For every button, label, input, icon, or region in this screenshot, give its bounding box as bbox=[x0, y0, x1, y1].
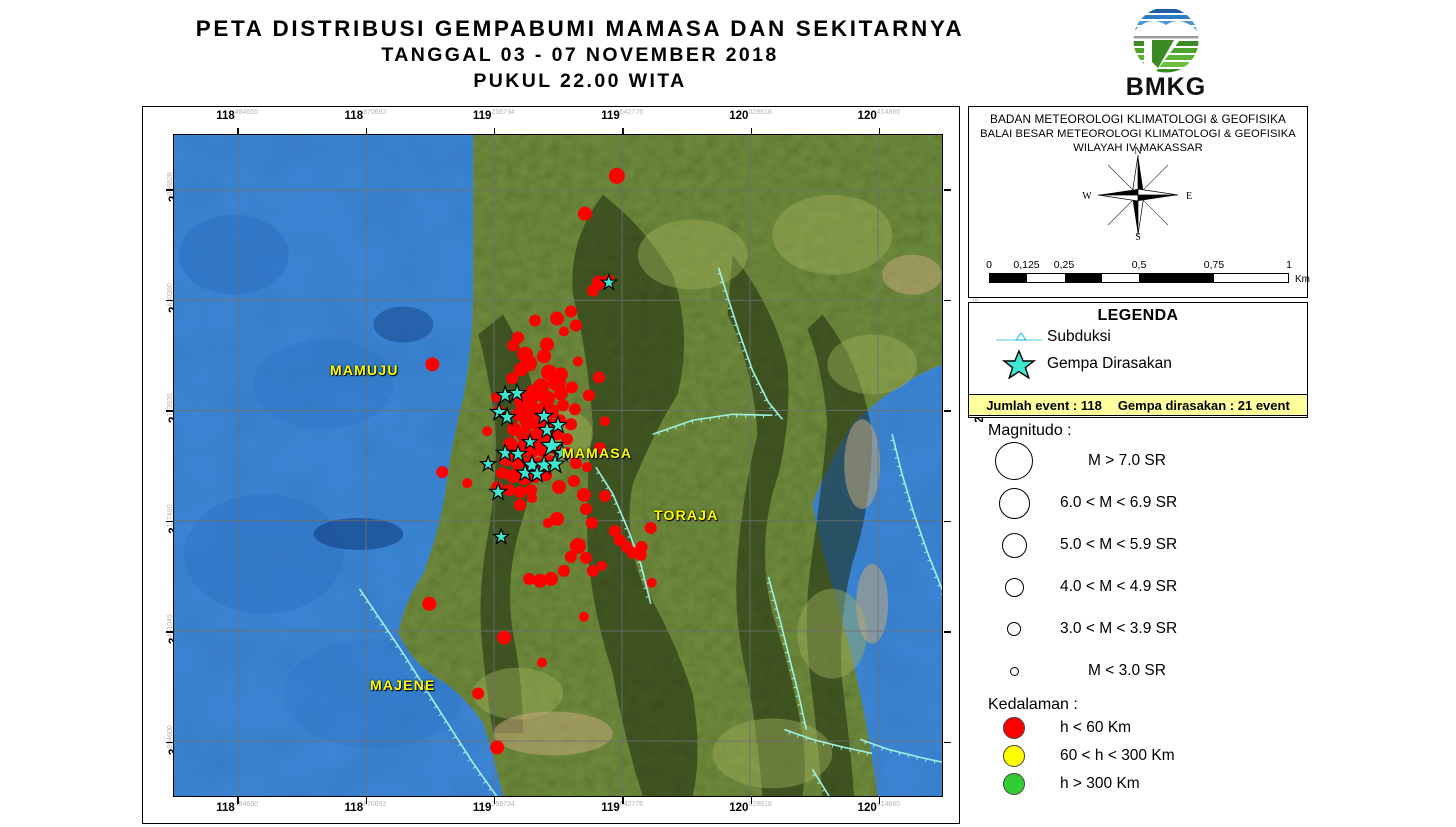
depth-circle-icon bbox=[968, 745, 1060, 767]
earthquake-epicenter[interactable] bbox=[578, 207, 592, 221]
compass-rose: N E S W bbox=[1078, 145, 1198, 241]
map-y-tick bbox=[944, 742, 951, 744]
page-title: PETA DISTRIBUSI GEMPABUMI MAMASA DAN SEK… bbox=[150, 14, 1010, 94]
compass-rose-icon: N E S W bbox=[1078, 145, 1198, 241]
map-x-label: 118870692 bbox=[345, 109, 387, 122]
scale-tick-label: 0 bbox=[986, 259, 992, 271]
earthquake-epicenter[interactable] bbox=[422, 597, 436, 611]
depth-legend-label: 60 < h < 300 Km bbox=[1060, 747, 1175, 765]
earthquake-epicenter[interactable] bbox=[568, 475, 580, 487]
legend-label-subduksi: Subduksi bbox=[1047, 328, 1111, 346]
scale-tick-labels: 00,1250,250,50,751 bbox=[989, 259, 1289, 273]
magnitude-legend-list: M > 7.0 SR6.0 < M < 6.9 SR5.0 < M < 5.9 … bbox=[968, 440, 1308, 692]
map-x-tick bbox=[366, 797, 368, 804]
map-x-label: 120028818 bbox=[729, 109, 772, 122]
earthquake-epicenter[interactable] bbox=[577, 488, 591, 502]
map-y-tick bbox=[944, 189, 951, 191]
earthquake-epicenter[interactable] bbox=[565, 306, 577, 318]
map-y-tick bbox=[944, 521, 951, 523]
earthquake-epicenter[interactable] bbox=[472, 688, 484, 700]
magnitude-legend-row: 5.0 < M < 5.9 SR bbox=[968, 524, 1308, 566]
earthquake-epicenter[interactable] bbox=[537, 658, 547, 668]
title-line-3: PUKUL 22.00 WITA bbox=[150, 69, 1010, 94]
bmkg-logo-icon bbox=[1124, 6, 1208, 74]
magnitude-legend-label: 4.0 < M < 4.9 SR bbox=[1060, 578, 1177, 596]
scale-bar: 00,1250,250,50,751 Km bbox=[989, 259, 1289, 283]
map-x-tick bbox=[494, 797, 496, 804]
subduction-barb bbox=[934, 761, 935, 764]
map-y-tick bbox=[166, 742, 173, 744]
scale-tick-label: 0,5 bbox=[1132, 259, 1147, 271]
magnitude-circle-icon bbox=[968, 622, 1060, 636]
magnitude-circle-icon bbox=[968, 533, 1060, 558]
map-x-tick bbox=[879, 797, 881, 804]
depth-title: Kedalaman : bbox=[968, 696, 1308, 714]
city-label-toraja: TORAJA bbox=[654, 507, 719, 523]
subduction-barb bbox=[850, 749, 851, 752]
earthquake-epicenter[interactable] bbox=[512, 331, 524, 343]
earthquake-epicenter[interactable] bbox=[537, 349, 551, 363]
map-x-label: 119642776 bbox=[601, 109, 643, 122]
earthquake-epicenter[interactable] bbox=[645, 522, 657, 534]
map-x-label: 118484650 bbox=[216, 109, 258, 122]
map-basemap bbox=[174, 135, 942, 796]
earthquake-epicenter[interactable] bbox=[600, 416, 610, 426]
magnitude-legend-row: 6.0 < M < 6.9 SR bbox=[968, 482, 1308, 524]
magnitude-circle-icon bbox=[968, 667, 1060, 676]
subduction-barb bbox=[802, 722, 805, 723]
depth-legend-row: h < 60 Km bbox=[968, 714, 1308, 742]
earthquake-epicenter[interactable] bbox=[490, 740, 504, 754]
map-y-tick bbox=[944, 300, 951, 302]
title-line-2: TANGGAL 03 - 07 NOVEMBER 2018 bbox=[150, 43, 1010, 68]
depth-legend-label: h > 300 Km bbox=[1060, 775, 1140, 793]
magnitude-legend-label: 6.0 < M < 6.9 SR bbox=[1060, 494, 1177, 512]
magnitude-legend-label: 3.0 < M < 3.9 SR bbox=[1060, 620, 1177, 638]
magnitude-legend-row: M < 3.0 SR bbox=[968, 650, 1308, 692]
earthquake-epicenter[interactable] bbox=[527, 493, 537, 503]
agency-line-1: BADAN METEOROLOGI KLIMATOLOGI & GEOFISIK… bbox=[969, 112, 1307, 127]
magnitude-circle-icon bbox=[968, 442, 1060, 480]
earthquake-epicenter[interactable] bbox=[580, 552, 592, 564]
earthquake-epicenter[interactable] bbox=[554, 386, 568, 400]
magnitude-legend-label: M > 7.0 SR bbox=[1060, 452, 1166, 470]
compass-east-label: E bbox=[1186, 191, 1192, 202]
magnitude-title: Magnitudo : bbox=[968, 422, 1308, 440]
subduction-barb bbox=[858, 751, 859, 754]
earthquake-epicenter[interactable] bbox=[566, 381, 578, 393]
earthquake-epicenter[interactable] bbox=[506, 372, 518, 384]
earthquake-epicenter[interactable] bbox=[550, 312, 564, 326]
earthquake-epicenter[interactable] bbox=[529, 315, 541, 327]
earthquake-epicenter[interactable] bbox=[540, 337, 554, 351]
earthquake-epicenter[interactable] bbox=[635, 549, 647, 561]
earthquake-epicenter[interactable] bbox=[543, 518, 553, 528]
earthquake-epicenter[interactable] bbox=[647, 578, 657, 588]
earthquake-epicenter[interactable] bbox=[425, 357, 439, 371]
subduction-barb bbox=[692, 420, 693, 423]
earthquake-epicenter[interactable] bbox=[597, 561, 607, 571]
compass-south-label: S bbox=[1135, 232, 1141, 241]
legend-title: LEGENDA bbox=[969, 303, 1307, 325]
scale-tick-label: 0,25 bbox=[1054, 259, 1074, 271]
map-y-tick bbox=[944, 631, 951, 633]
compass-north-label: N bbox=[1134, 146, 1141, 157]
map-y-tick bbox=[166, 521, 173, 523]
bmkg-logo-text: BMKG bbox=[1086, 75, 1246, 100]
depth-legend-label: h < 60 Km bbox=[1060, 719, 1131, 737]
subduction-barb bbox=[798, 704, 801, 705]
felt-event-label: Gempa dirasakan : 21 event bbox=[1118, 398, 1290, 413]
earthquake-epicenter[interactable] bbox=[558, 565, 570, 577]
earthquake-epicenter[interactable] bbox=[582, 462, 592, 472]
earthquake-epicenter[interactable] bbox=[523, 573, 535, 585]
legend-label-gempa-dirasakan: Gempa Dirasakan bbox=[1047, 355, 1172, 373]
legend-item-subduksi: Subduksi bbox=[969, 328, 1307, 346]
map-y-tick bbox=[166, 410, 173, 412]
subduction-barb bbox=[800, 713, 803, 714]
magnitude-circle-icon bbox=[968, 488, 1060, 519]
earthquake-epicenter[interactable] bbox=[573, 356, 583, 366]
earthquake-epicenter[interactable] bbox=[570, 320, 582, 332]
map-y-tick bbox=[166, 300, 173, 302]
subduction-barb bbox=[926, 759, 927, 762]
scale-tick-label: 1 bbox=[1286, 259, 1292, 271]
map-x-tick bbox=[751, 797, 753, 804]
magnitude-legend-label: M < 3.0 SR bbox=[1060, 662, 1166, 680]
star-icon bbox=[991, 349, 1047, 379]
scale-tick-label: 0,75 bbox=[1204, 259, 1224, 271]
earthquake-epicenter[interactable] bbox=[554, 367, 568, 381]
earthquake-epicenter[interactable] bbox=[569, 403, 581, 415]
earthquake-epicenter[interactable] bbox=[587, 285, 599, 297]
map-frame: 1184846501188706921192567341196427761200… bbox=[142, 106, 960, 824]
agency-line-2: BALAI BESAR METEOROLOGI KLIMATOLOGI & GE… bbox=[969, 127, 1307, 141]
earthquake-epicenter[interactable] bbox=[565, 418, 577, 430]
map-x-tick bbox=[622, 797, 624, 804]
city-label-mamuju: MAMUJU bbox=[330, 362, 399, 378]
scale-bar-graphic: Km bbox=[989, 273, 1289, 283]
magnitude-depth-panel: Magnitudo : M > 7.0 SR6.0 < M < 6.9 SR5.… bbox=[968, 422, 1308, 824]
magnitude-legend-row: M > 7.0 SR bbox=[968, 440, 1308, 482]
event-count-banner: Jumlah event : 118 Gempa dirasakan : 21 … bbox=[968, 394, 1308, 416]
scale-unit-label: Km bbox=[1295, 274, 1310, 285]
magnitude-legend-label: 5.0 < M < 5.9 SR bbox=[1060, 536, 1177, 554]
earthquake-epicenter[interactable] bbox=[580, 503, 592, 515]
agency-panel: BADAN METEOROLOGI KLIMATOLOGI & GEOFISIK… bbox=[968, 106, 1308, 298]
map-y-tick bbox=[166, 631, 173, 633]
subduction-barb bbox=[867, 752, 868, 755]
city-label-majene: MAJENE bbox=[370, 677, 436, 693]
depth-legend-row: h > 300 Km bbox=[968, 770, 1308, 798]
subduction-barb bbox=[796, 696, 799, 697]
map-y-tick bbox=[166, 189, 173, 191]
bmkg-logo: BMKG bbox=[1086, 6, 1246, 100]
earthquake-epicenter[interactable] bbox=[557, 399, 569, 411]
total-event-label: Jumlah event : 118 bbox=[986, 398, 1102, 413]
map-x-label: 120414860 bbox=[858, 109, 901, 122]
map-y-tick bbox=[944, 410, 951, 412]
subduction-line-icon bbox=[991, 329, 1047, 345]
earthquake-epicenter[interactable] bbox=[565, 551, 577, 563]
earthquake-epicenter[interactable] bbox=[482, 426, 492, 436]
depth-circle-icon bbox=[968, 773, 1060, 795]
earthquake-epicenter[interactable] bbox=[579, 612, 589, 622]
title-line-1: PETA DISTRIBUSI GEMPABUMI MAMASA DAN SEK… bbox=[150, 14, 1010, 43]
city-label-mamasa: MAMASA bbox=[562, 445, 632, 461]
earthquake-epicenter[interactable] bbox=[514, 499, 526, 511]
earthquake-epicenter[interactable] bbox=[583, 389, 595, 401]
map-viewport[interactable]: MAMUJUMAMASATORAJAMAJENE bbox=[173, 134, 943, 797]
earthquake-epicenter[interactable] bbox=[497, 631, 511, 645]
magnitude-circle-icon bbox=[968, 578, 1060, 597]
earthquake-epicenter[interactable] bbox=[533, 574, 547, 588]
depth-circle-icon bbox=[968, 717, 1060, 739]
depth-legend-list: h < 60 Km60 < h < 300 Kmh > 300 Km bbox=[968, 714, 1308, 798]
earthquake-epicenter[interactable] bbox=[462, 478, 472, 488]
earthquake-epicenter[interactable] bbox=[609, 168, 625, 184]
earthquake-epicenter[interactable] bbox=[593, 371, 605, 383]
earthquake-epicenter[interactable] bbox=[436, 466, 448, 478]
legend-item-gempa-dirasakan: Gempa Dirasakan bbox=[969, 349, 1307, 379]
map-x-label: 119256734 bbox=[473, 109, 515, 122]
compass-west-label: W bbox=[1082, 191, 1092, 202]
magnitude-legend-row: 3.0 < M < 3.9 SR bbox=[968, 608, 1308, 650]
earthquake-epicenter[interactable] bbox=[552, 480, 566, 494]
earthquake-epicenter[interactable] bbox=[559, 326, 569, 336]
magnitude-legend-row: 4.0 < M < 4.9 SR bbox=[968, 566, 1308, 608]
earthquake-epicenter[interactable] bbox=[514, 486, 526, 498]
earthquake-epicenter[interactable] bbox=[599, 490, 611, 502]
map-x-tick bbox=[237, 797, 239, 804]
scale-tick-label: 0,125 bbox=[1013, 259, 1039, 271]
earthquake-epicenter[interactable] bbox=[586, 517, 598, 529]
depth-legend-row: 60 < h < 300 Km bbox=[968, 742, 1308, 770]
